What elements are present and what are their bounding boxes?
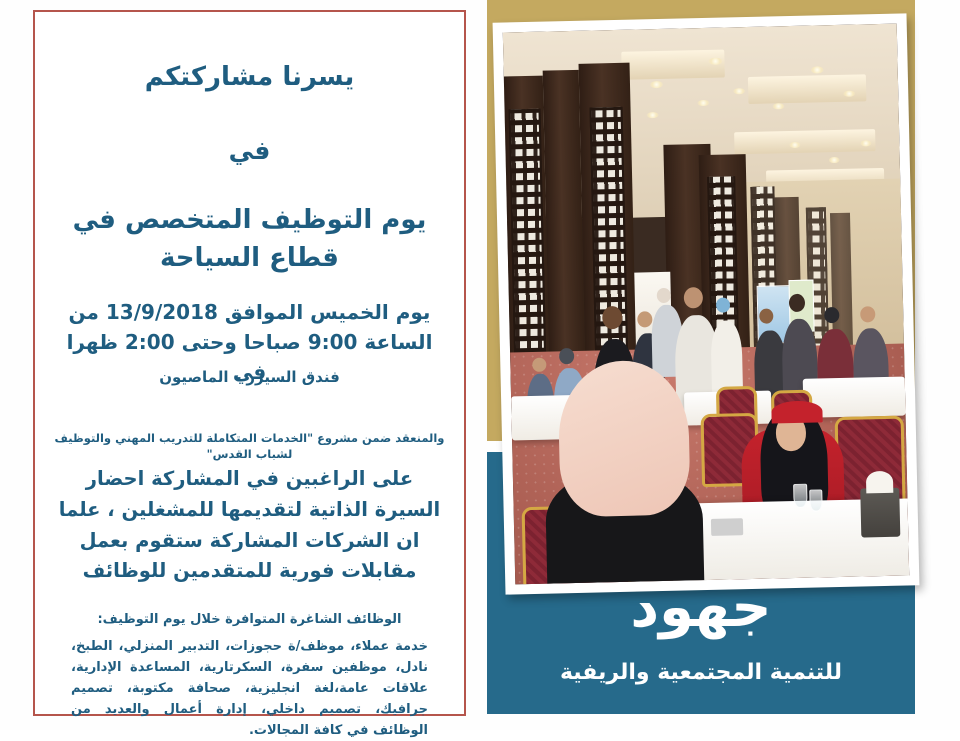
ceiling-soffit [621, 50, 724, 80]
attendee-head [637, 311, 652, 327]
tissue [865, 471, 893, 494]
downlight [733, 88, 745, 94]
drinking-glass [809, 489, 822, 511]
attendee-head [860, 306, 875, 322]
ceiling-soffit [734, 129, 876, 154]
photo-frame [493, 13, 920, 594]
drinking-glass [793, 484, 808, 508]
event-venue: فندق السيزر – الماصيون [35, 367, 464, 387]
event-title: يوم التوظيف المتخصص في قطاع السياحة [35, 202, 464, 277]
attendee-head [602, 306, 623, 329]
poster-canvas: يسرنا مشاركتكم في يوم التوظيف المتخصص في… [0, 0, 960, 730]
mobile-phone [711, 518, 743, 535]
vacancies-block: الوظائف الشاغرة المتوافرة خلال يوم التوظ… [35, 610, 464, 741]
project-note: والمنعقد ضمن مشروع "الخدمات المتكاملة لل… [35, 430, 464, 462]
ceiling-soffit [748, 74, 867, 104]
downlight [697, 100, 709, 106]
attendee-head [789, 293, 805, 311]
downlight [860, 140, 871, 146]
right-brand-panel: جهود للتنمية المجتمعية والريفية [487, 0, 960, 730]
tissue-box [860, 487, 901, 538]
vacancies-list: خدمة عملاء، موظف/ة حجوزات، التدبير المنز… [57, 636, 442, 741]
left-text-panel: يسرنا مشاركتكم في يوم التوظيف المتخصص في… [33, 10, 466, 716]
connector-word: في [35, 134, 464, 168]
logo-tagline: للتنمية المجتمعية والريفية [487, 660, 915, 685]
cv-instructions: على الراغبين في المشاركة احضار السيرة ال… [35, 464, 464, 587]
interviewer-headband [771, 401, 823, 424]
downlight [789, 142, 800, 148]
welcome-headline: يسرنا مشاركتكم [35, 60, 464, 95]
event-photo [503, 24, 909, 585]
vacancies-heading: الوظائف الشاغرة المتوافرة خلال يوم التوظ… [57, 610, 442, 630]
downlight [646, 112, 658, 118]
attendee-head [824, 306, 839, 322]
attendee-head [759, 308, 773, 323]
attendee-head [532, 357, 546, 371]
